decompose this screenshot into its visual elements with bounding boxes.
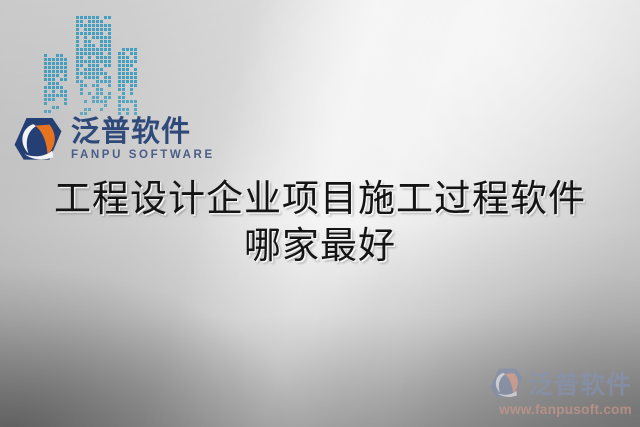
skyline-pixel xyxy=(48,82,51,85)
skyline-pixel xyxy=(108,40,111,43)
skyline-pixel xyxy=(88,52,91,55)
skyline-pixel xyxy=(96,28,99,31)
skyline-pixel xyxy=(56,82,59,85)
skyline-pixel xyxy=(76,36,79,39)
brand-name-cn: 泛普软件 xyxy=(71,117,215,146)
skyline-pixel xyxy=(104,48,107,51)
skyline-pixel xyxy=(88,76,91,79)
skyline-pixel xyxy=(118,88,121,91)
skyline-pixel xyxy=(60,70,63,73)
skyline-pixel xyxy=(96,64,99,67)
skyline-pixel xyxy=(44,94,47,97)
skyline-pixel xyxy=(122,80,125,83)
skyline-pixel xyxy=(104,40,107,43)
skyline-pixel xyxy=(88,16,91,19)
skyline-pixel xyxy=(76,32,79,35)
skyline-pixel xyxy=(44,62,47,65)
skyline-pixel xyxy=(100,88,103,91)
skyline-pixel xyxy=(48,74,51,77)
skyline-pixel xyxy=(100,60,103,63)
skyline-pixel xyxy=(104,36,107,39)
skyline-pixel xyxy=(80,64,83,67)
skyline-pixel xyxy=(104,104,107,107)
skyline-pixel xyxy=(108,24,111,27)
skyline-pixel xyxy=(130,52,133,55)
skyline-pixel xyxy=(84,60,87,63)
skyline-tower-right xyxy=(118,48,140,120)
skyline-pixel xyxy=(56,54,59,57)
brand-lockup: 泛普软件 FANPU SOFTWARE xyxy=(14,117,215,162)
skyline-pixel xyxy=(118,52,121,55)
skyline-pixel xyxy=(108,96,111,99)
skyline-pixel xyxy=(64,94,67,97)
skyline-pixel xyxy=(76,68,79,71)
skyline-pixel xyxy=(48,110,51,113)
skyline-pixel xyxy=(122,48,125,51)
skyline-pixel xyxy=(122,68,125,71)
fanpu-hexagon-logo-icon xyxy=(14,117,62,161)
skyline-pixel xyxy=(64,74,67,77)
skyline-pixel xyxy=(80,60,83,63)
skyline-pixel xyxy=(92,36,95,39)
skyline-pixel xyxy=(122,84,125,87)
skyline-pixel xyxy=(126,68,129,71)
skyline-pixel xyxy=(96,72,99,75)
skyline-pixel xyxy=(84,72,87,75)
skyline-pixel xyxy=(134,100,137,103)
skyline-pixel xyxy=(130,80,133,83)
skyline-pixel xyxy=(104,28,107,31)
skyline-pixel xyxy=(56,58,59,61)
skyline-pixel xyxy=(88,48,91,51)
skyline-pixel xyxy=(84,100,87,103)
skyline-pixel xyxy=(100,28,103,31)
skyline-pixel xyxy=(80,84,83,87)
skyline-pixel xyxy=(92,72,95,75)
skyline-pixel xyxy=(76,64,79,67)
skyline-pixel xyxy=(56,66,59,69)
skyline-pixel xyxy=(76,52,79,55)
watermark-name-cn: 泛普软件 xyxy=(528,365,632,401)
skyline-pixel xyxy=(88,60,91,63)
skyline-pixel xyxy=(80,80,83,83)
skyline-pixel xyxy=(134,72,137,75)
skyline-pixel xyxy=(118,96,121,99)
skyline-pixel xyxy=(118,80,121,83)
skyline-pixel xyxy=(134,60,137,63)
skyline-pixel xyxy=(76,40,79,43)
skyline-pixel xyxy=(118,104,121,107)
skyline-pixel xyxy=(88,56,91,59)
skyline-pixel xyxy=(64,102,67,105)
skyline-pixel xyxy=(92,84,95,87)
skyline-pixel xyxy=(104,80,107,83)
skyline-pixel xyxy=(122,56,125,59)
skyline-pixel xyxy=(92,64,95,67)
skyline-tower-left xyxy=(44,54,68,120)
skyline-pixel xyxy=(96,16,99,19)
skyline-pixel xyxy=(96,20,99,23)
skyline-pixel xyxy=(84,44,87,47)
skyline-pixel xyxy=(96,24,99,27)
skyline-pixel xyxy=(76,28,79,31)
skyline-pixel xyxy=(56,86,59,89)
skyline-pixel xyxy=(130,88,133,91)
skyline-pixel xyxy=(56,94,59,97)
skyline-pixel xyxy=(76,24,79,27)
skyline-pixel xyxy=(100,92,103,95)
skyline-pixel xyxy=(104,76,107,79)
skyline-pixel xyxy=(126,64,129,67)
skyline-pixel xyxy=(96,76,99,79)
skyline-pixel xyxy=(80,24,83,27)
skyline-pixel xyxy=(84,76,87,79)
skyline-pixel xyxy=(76,48,79,51)
skyline-pixel xyxy=(92,20,95,23)
skyline-pixel xyxy=(44,66,47,69)
skyline-pixel xyxy=(88,108,91,111)
skyline-pixel xyxy=(88,28,91,31)
skyline-pixel xyxy=(108,16,111,19)
skyline-pixel xyxy=(100,56,103,59)
skyline-pixel xyxy=(104,60,107,63)
skyline-pixel xyxy=(100,40,103,43)
skyline-pixel xyxy=(100,48,103,51)
skyline-pixel xyxy=(134,48,137,51)
skyline-pixel xyxy=(100,72,103,75)
skyline-pixel xyxy=(48,94,51,97)
skyline-pixel xyxy=(80,72,83,75)
skyline-pixel xyxy=(92,44,95,47)
skyline-pixel xyxy=(130,48,133,51)
skyline-pixel xyxy=(52,74,55,77)
skyline-pixel xyxy=(122,64,125,67)
skyline-pixel xyxy=(48,58,51,61)
skyline-pixel xyxy=(96,48,99,51)
skyline-pixel xyxy=(104,72,107,75)
skyline-pixel xyxy=(88,40,91,43)
skyline-pixel xyxy=(64,70,67,73)
skyline-pixel xyxy=(130,60,133,63)
skyline-pixel xyxy=(122,108,125,111)
skyline-pixel xyxy=(96,80,99,83)
skyline-pixel xyxy=(96,100,99,103)
skyline-pixel xyxy=(52,66,55,69)
skyline-pixel xyxy=(44,90,47,93)
skyline-pixel xyxy=(126,80,129,83)
skyline-pixel xyxy=(52,106,55,109)
skyline-pixel xyxy=(56,62,59,65)
skyline-pixel xyxy=(60,94,63,97)
watermark: 泛普软件 www.fanpusoft.com xyxy=(490,365,632,417)
skyline-pixel xyxy=(84,28,87,31)
skyline-pixel xyxy=(108,64,111,67)
skyline-pixel xyxy=(44,78,47,81)
pixel-skyline-graphic xyxy=(44,16,140,120)
skyline-pixel xyxy=(130,72,133,75)
skyline-pixel xyxy=(48,66,51,69)
skyline-pixel xyxy=(84,16,87,19)
skyline-pixel xyxy=(64,66,67,69)
skyline-pixel xyxy=(92,96,95,99)
skyline-pixel xyxy=(64,98,67,101)
skyline-pixel xyxy=(134,84,137,87)
skyline-pixel xyxy=(80,16,83,19)
skyline-pixel xyxy=(84,32,87,35)
skyline-pixel xyxy=(84,24,87,27)
skyline-pixel xyxy=(76,16,79,19)
brand-name-en: FANPU SOFTWARE xyxy=(71,150,215,162)
skyline-pixel xyxy=(52,82,55,85)
skyline-pixel xyxy=(104,96,107,99)
skyline-pixel xyxy=(92,52,95,55)
skyline-pixel xyxy=(60,62,63,65)
fanpu-hexagon-logo-icon xyxy=(490,368,523,398)
watermark-row: 泛普软件 xyxy=(490,365,632,401)
skyline-pixel xyxy=(92,16,95,19)
skyline-pixel xyxy=(92,68,95,71)
skyline-pixel xyxy=(134,104,137,107)
skyline-pixel xyxy=(52,98,55,101)
promo-banner: 泛普软件 FANPU SOFTWARE 工程设计企业项目施工过程软件 哪家最好 … xyxy=(0,0,640,427)
skyline-pixel xyxy=(108,52,111,55)
skyline-pixel xyxy=(84,108,87,111)
skyline-pixel xyxy=(92,28,95,31)
skyline-pixel xyxy=(44,86,47,89)
skyline-pixel xyxy=(76,72,79,75)
skyline-pixel xyxy=(108,28,111,31)
skyline-pixel xyxy=(48,98,51,101)
skyline-pixel xyxy=(122,60,125,63)
skyline-pixel xyxy=(60,86,63,89)
skyline-pixel xyxy=(100,100,103,103)
skyline-pixel xyxy=(96,88,99,91)
skyline-pixel xyxy=(100,32,103,35)
skyline-pixel xyxy=(104,44,107,47)
skyline-pixel xyxy=(104,100,107,103)
skyline-pixel xyxy=(122,72,125,75)
skyline-pixel xyxy=(100,44,103,47)
skyline-pixel xyxy=(118,64,121,67)
skyline-pixel xyxy=(134,56,137,59)
skyline-pixel xyxy=(80,20,83,23)
skyline-pixel xyxy=(88,24,91,27)
skyline-pixel xyxy=(60,90,63,93)
skyline-pixel xyxy=(88,92,91,95)
skyline-pixel xyxy=(44,70,47,73)
skyline-pixel xyxy=(100,80,103,83)
skyline-pixel xyxy=(76,76,79,79)
skyline-pixel xyxy=(80,48,83,51)
skyline-pixel xyxy=(44,102,47,105)
skyline-pixel xyxy=(126,60,129,63)
skyline-pixel xyxy=(126,72,129,75)
skyline-pixel xyxy=(56,106,59,109)
skyline-pixel xyxy=(96,60,99,63)
skyline-pixel xyxy=(108,92,111,95)
headline-line-2: 哪家最好 xyxy=(0,223,640,270)
skyline-pixel xyxy=(96,96,99,99)
skyline-tower-center xyxy=(76,16,112,120)
skyline-pixel xyxy=(76,20,79,23)
skyline-pixel xyxy=(100,36,103,39)
skyline-pixel xyxy=(84,48,87,51)
skyline-pixel xyxy=(44,110,47,113)
headline-line-1: 工程设计企业项目施工过程软件 xyxy=(0,176,640,223)
skyline-pixel xyxy=(122,52,125,55)
skyline-pixel xyxy=(92,100,95,103)
skyline-pixel xyxy=(92,32,95,35)
skyline-pixel xyxy=(88,44,91,47)
skyline-pixel xyxy=(122,88,125,91)
skyline-pixel xyxy=(80,56,83,59)
skyline-pixel xyxy=(80,32,83,35)
skyline-pixel xyxy=(104,64,107,67)
skyline-pixel xyxy=(108,36,111,39)
skyline-pixel xyxy=(122,96,125,99)
skyline-pixel xyxy=(88,68,91,71)
skyline-pixel xyxy=(122,76,125,79)
skyline-pixel xyxy=(80,88,83,91)
watermark-url: www.fanpusoft.com xyxy=(499,402,632,417)
skyline-pixel xyxy=(104,16,107,19)
skyline-pixel xyxy=(44,74,47,77)
skyline-pixel xyxy=(84,84,87,87)
skyline-pixel xyxy=(108,48,111,51)
skyline-pixel xyxy=(100,24,103,27)
skyline-pixel xyxy=(96,32,99,35)
skyline-pixel xyxy=(122,100,125,103)
headline-block: 工程设计企业项目施工过程软件 哪家最好 xyxy=(0,176,640,269)
skyline-pixel xyxy=(64,90,67,93)
skyline-pixel xyxy=(108,56,111,59)
skyline-pixel xyxy=(84,52,87,55)
skyline-pixel xyxy=(88,72,91,75)
skyline-pixel xyxy=(76,56,79,59)
skyline-pixel xyxy=(104,24,107,27)
skyline-pixel xyxy=(126,108,129,111)
skyline-pixel xyxy=(56,74,59,77)
skyline-pixel xyxy=(96,36,99,39)
skyline-pixel xyxy=(130,92,133,95)
skyline-pixel xyxy=(48,70,51,73)
skyline-pixel xyxy=(108,80,111,83)
skyline-pixel xyxy=(48,78,51,81)
skyline-pixel xyxy=(80,92,83,95)
skyline-pixel xyxy=(96,68,99,71)
skyline-pixel xyxy=(134,80,137,83)
skyline-pixel xyxy=(96,84,99,87)
skyline-pixel xyxy=(76,44,79,47)
skyline-pixel xyxy=(134,108,137,111)
skyline-pixel xyxy=(56,70,59,73)
skyline-pixel xyxy=(52,70,55,73)
skyline-pixel xyxy=(96,92,99,95)
skyline-pixel xyxy=(84,36,87,39)
skyline-pixel xyxy=(96,52,99,55)
skyline-pixel xyxy=(60,58,63,61)
brand-wordmark: 泛普软件 FANPU SOFTWARE xyxy=(71,117,215,162)
skyline-pixel xyxy=(100,20,103,23)
skyline-pixel xyxy=(126,76,129,79)
skyline-pixel xyxy=(52,94,55,97)
skyline-pixel xyxy=(118,56,121,59)
skyline-pixel xyxy=(48,62,51,65)
skyline-pixel xyxy=(52,86,55,89)
skyline-pixel xyxy=(100,68,103,71)
skyline-pixel xyxy=(122,92,125,95)
skyline-pixel xyxy=(44,98,47,101)
skyline-pixel xyxy=(52,62,55,65)
skyline-pixel xyxy=(104,56,107,59)
skyline-pixel xyxy=(88,20,91,23)
skyline-pixel xyxy=(126,56,129,59)
skyline-pixel xyxy=(88,32,91,35)
skyline-pixel xyxy=(130,76,133,79)
skyline-pixel xyxy=(108,32,111,35)
skyline-pixel xyxy=(126,48,129,51)
skyline-pixel xyxy=(126,100,129,103)
skyline-pixel xyxy=(64,62,67,65)
skyline-pixel xyxy=(84,68,87,71)
skyline-pixel xyxy=(44,58,47,61)
skyline-pixel xyxy=(134,76,137,79)
skyline-pixel xyxy=(130,100,133,103)
skyline-pixel xyxy=(64,58,67,61)
skyline-pixel xyxy=(134,68,137,71)
skyline-pixel xyxy=(118,76,121,79)
skyline-pixel xyxy=(108,84,111,87)
skyline-pixel xyxy=(92,76,95,79)
skyline-pixel xyxy=(92,24,95,27)
skyline-pixel xyxy=(88,64,91,67)
skyline-pixel xyxy=(76,60,79,63)
skyline-pixel xyxy=(118,84,121,87)
skyline-pixel xyxy=(100,108,103,111)
skyline-pixel xyxy=(118,68,121,71)
skyline-pixel xyxy=(80,52,83,55)
skyline-pixel xyxy=(44,54,47,57)
skyline-pixel xyxy=(64,78,67,81)
skyline-pixel xyxy=(60,66,63,69)
skyline-pixel xyxy=(130,84,133,87)
skyline-pixel xyxy=(134,52,137,55)
skyline-pixel xyxy=(108,44,111,47)
skyline-pixel xyxy=(130,64,133,67)
skyline-pixel xyxy=(60,54,63,57)
skyline-pixel xyxy=(100,52,103,55)
skyline-pixel xyxy=(92,48,95,51)
skyline-pixel xyxy=(108,76,111,79)
skyline-pixel xyxy=(118,108,121,111)
skyline-pixel xyxy=(48,86,51,89)
skyline-pixel xyxy=(60,78,63,81)
skyline-pixel xyxy=(84,40,87,43)
skyline-pixel xyxy=(118,72,121,75)
skyline-pixel xyxy=(52,78,55,81)
skyline-pixel xyxy=(52,58,55,61)
skyline-pixel xyxy=(96,56,99,59)
skyline-pixel xyxy=(108,60,111,63)
skyline-pixel xyxy=(118,60,121,63)
skyline-pixel xyxy=(76,80,79,83)
skyline-pixel xyxy=(118,100,121,103)
skyline-pixel xyxy=(52,90,55,93)
skyline-pixel xyxy=(92,60,95,63)
